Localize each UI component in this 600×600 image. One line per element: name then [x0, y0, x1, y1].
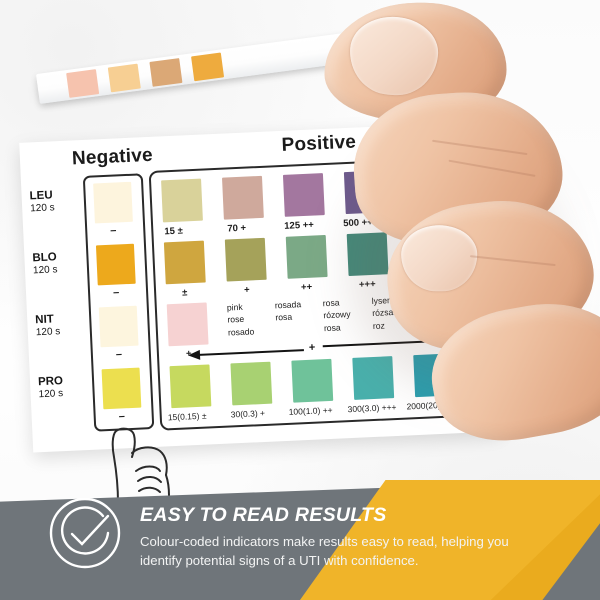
- row-time-blo: 120 s: [33, 264, 58, 276]
- pro-label-100: 100(1.0) ++: [288, 405, 332, 417]
- negative-swatch-nit: [99, 306, 139, 348]
- leu-swatch-15: [161, 179, 203, 223]
- row-time-leu: 120 s: [30, 202, 55, 214]
- blo-label-plus2: ++: [301, 282, 313, 293]
- blo-swatch-trace: [164, 241, 206, 285]
- leu-swatch-70: [222, 176, 264, 220]
- blo-label-plus: +: [244, 285, 250, 296]
- row-code-pro: PRO: [38, 375, 63, 388]
- row-label-blo: BLO 120 s: [32, 251, 58, 276]
- strip-pad-leu: [66, 69, 99, 98]
- pro-label-30: 30(0.3) +: [231, 408, 266, 420]
- negative-swatch-pro: [102, 368, 142, 410]
- banner-subtitle: Colour-coded indicators make results eas…: [140, 532, 540, 570]
- arrow-plus-separator: +: [309, 342, 316, 354]
- negative-swatch-blo: [96, 244, 136, 286]
- banner-title: EASY TO READ RESULTS: [140, 504, 387, 527]
- negative-dash-blo: –: [113, 286, 120, 298]
- blo-swatch-plus: [225, 238, 267, 282]
- row-code-leu: LEU: [29, 189, 53, 202]
- leu-label-15: 15 ±: [164, 225, 183, 237]
- negative-dash-nit: –: [116, 348, 123, 360]
- nit-word-rosa: rosa: [275, 311, 302, 325]
- pro-swatch-30: [230, 362, 272, 406]
- row-code-nit: NIT: [35, 313, 54, 326]
- row-time-pro: 120 s: [38, 388, 63, 400]
- header-negative: Negative: [72, 145, 154, 171]
- negative-dash-leu: –: [110, 225, 117, 237]
- leu-label-70: 70 +: [227, 223, 246, 235]
- nit-word-rosada: rosada: [275, 298, 302, 312]
- nit-word-rosado: rosado: [228, 325, 255, 339]
- pro-label-15: 15(0.15) ±: [168, 411, 207, 423]
- row-code-blo: BLO: [32, 251, 57, 264]
- nit-swatch-positive: [167, 302, 209, 346]
- circle-check-icon: [48, 496, 122, 570]
- nit-words-pt: rosada rosa: [275, 298, 302, 324]
- blo-label-trace: ±: [182, 287, 188, 298]
- row-label-leu: LEU 120 s: [29, 189, 55, 214]
- negative-dash-pro: –: [118, 410, 125, 422]
- product-photo-canvas: Negative Positive LEU 120 s BLO 120 s NI…: [0, 0, 600, 600]
- bottom-banner: EASY TO READ RESULTS Colour-coded indica…: [0, 480, 600, 600]
- negative-swatch-leu: [93, 182, 133, 224]
- row-label-pro: PRO 120 s: [38, 375, 64, 400]
- row-time-nit: 120 s: [36, 326, 61, 338]
- strip-pad-blo: [108, 64, 141, 93]
- leu-label-125: 125 ++: [284, 220, 314, 232]
- ring-fingernail: [401, 225, 477, 291]
- strip-pad-nit: [149, 58, 182, 87]
- pro-swatch-15: [170, 364, 212, 408]
- hand-holding-strip: [294, 0, 600, 456]
- strip-pad-pro: [191, 53, 224, 82]
- nit-words-en: pink rose rosado: [227, 300, 255, 339]
- pro-swatch-100: [291, 359, 333, 403]
- row-label-nit: NIT 120 s: [35, 313, 61, 338]
